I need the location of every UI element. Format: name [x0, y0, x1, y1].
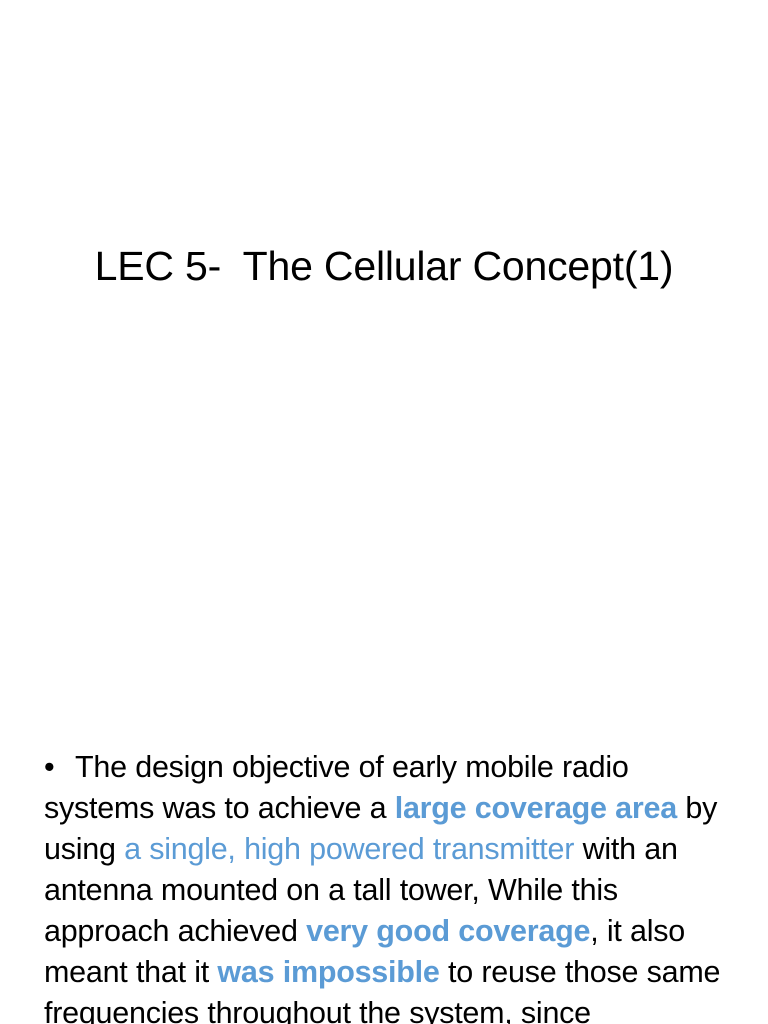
bullet-point-icon: • [44, 747, 66, 788]
body-run-very-good-coverage: very good coverage [306, 914, 590, 948]
body-run-large-coverage-area: large coverage area [395, 791, 677, 825]
slide-canvas: LEC 5- The Cellular Concept(1) •The desi… [0, 0, 768, 1024]
bullet-list-item: •The design objective of early mobile ra… [44, 747, 744, 1024]
page-title: LEC 5- The Cellular Concept(1) [95, 243, 674, 290]
title-container: LEC 5- The Cellular Concept(1) [0, 216, 768, 318]
body-run-was-impossible: was impossible [217, 955, 439, 989]
body-run-single-high-powered-transmitter: a single, high powered transmitter [124, 832, 574, 866]
body-text-container: •The design objective of early mobile ra… [44, 716, 744, 1024]
